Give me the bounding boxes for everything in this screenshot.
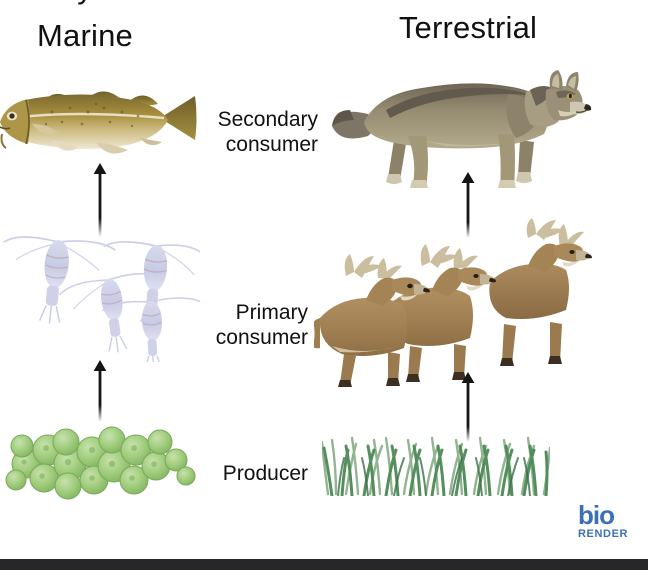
biorender-wordmark-bio: bio — [578, 503, 642, 528]
clipped-title-above-marine: y — [0, 0, 170, 6]
bottom-bar — [0, 559, 648, 570]
organism-grey-wolf — [330, 48, 592, 188]
arrow-marine-primary-to-secondary — [88, 163, 112, 237]
arrow-marine-producer-to-primary — [88, 360, 112, 422]
trophic-label-primary-consumer: Primary consumer — [160, 300, 308, 350]
biorender-watermark: bio RENDER — [578, 503, 642, 549]
organism-grass — [322, 424, 550, 496]
diagram-canvas: y Marine Terrestrial — [0, 0, 648, 570]
organism-white-tailed-deer-herd — [314, 216, 594, 388]
trophic-label-secondary-consumer: Secondary consumer — [160, 107, 318, 157]
column-title-marine: Marine — [0, 18, 170, 54]
column-title-terrestrial: Terrestrial — [368, 10, 568, 46]
biorender-wordmark-render: RENDER — [578, 528, 642, 540]
trophic-label-producer: Producer — [160, 461, 308, 486]
